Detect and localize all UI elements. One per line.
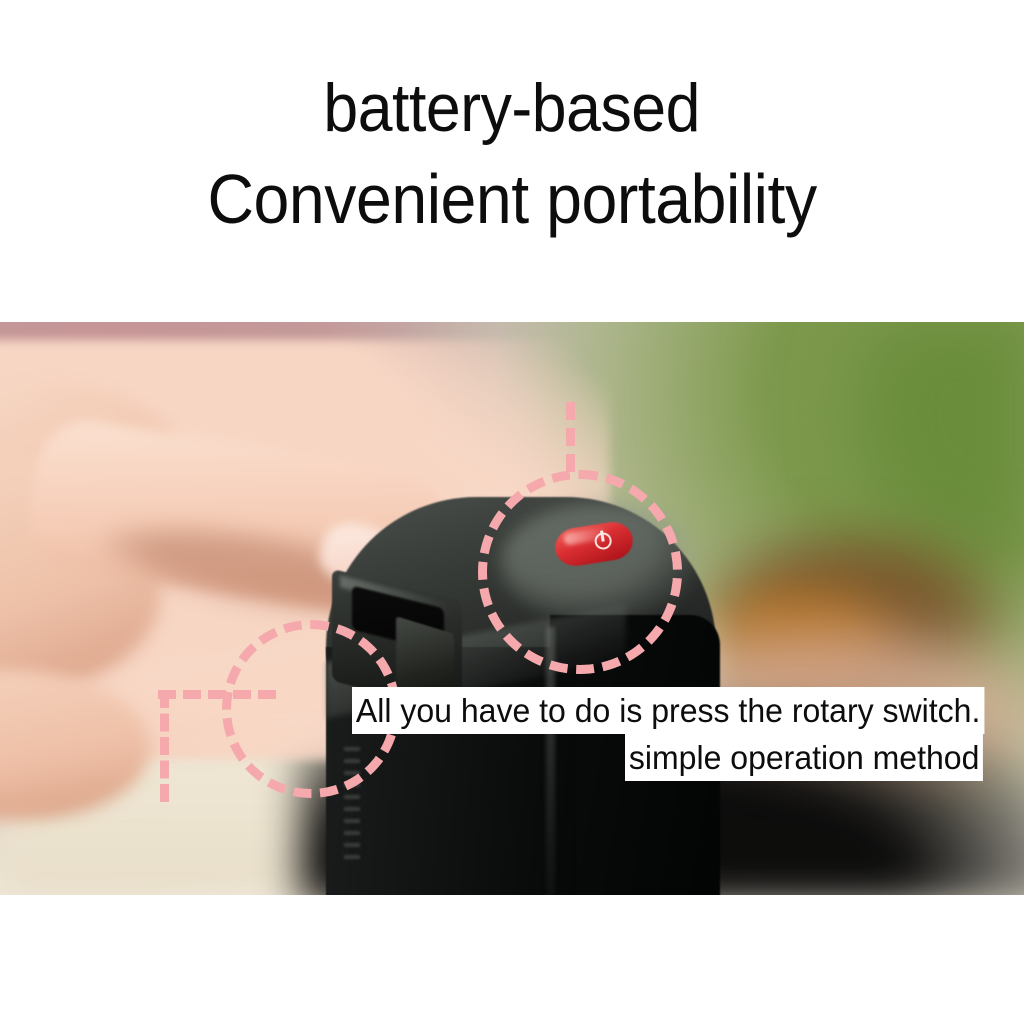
caption-switch-line1: All you have to do is press the rotary s…	[352, 687, 984, 734]
device-vertical-edge	[546, 627, 555, 895]
heading-block: battery-based Convenient portability	[0, 0, 1024, 322]
heading-line-secondary: Convenient portability	[207, 164, 816, 234]
product-feature-banner: battery-based Convenient portability	[0, 0, 1024, 1024]
heading-line-primary: battery-based	[324, 74, 701, 142]
caption-switch-line2: simple operation method	[625, 734, 983, 781]
device-embossed-text	[344, 747, 360, 867]
device-top-highlight	[500, 503, 700, 623]
footer-whitespace	[0, 895, 1024, 1024]
product-photo: All you have to do is press the rotary s…	[0, 322, 1024, 895]
